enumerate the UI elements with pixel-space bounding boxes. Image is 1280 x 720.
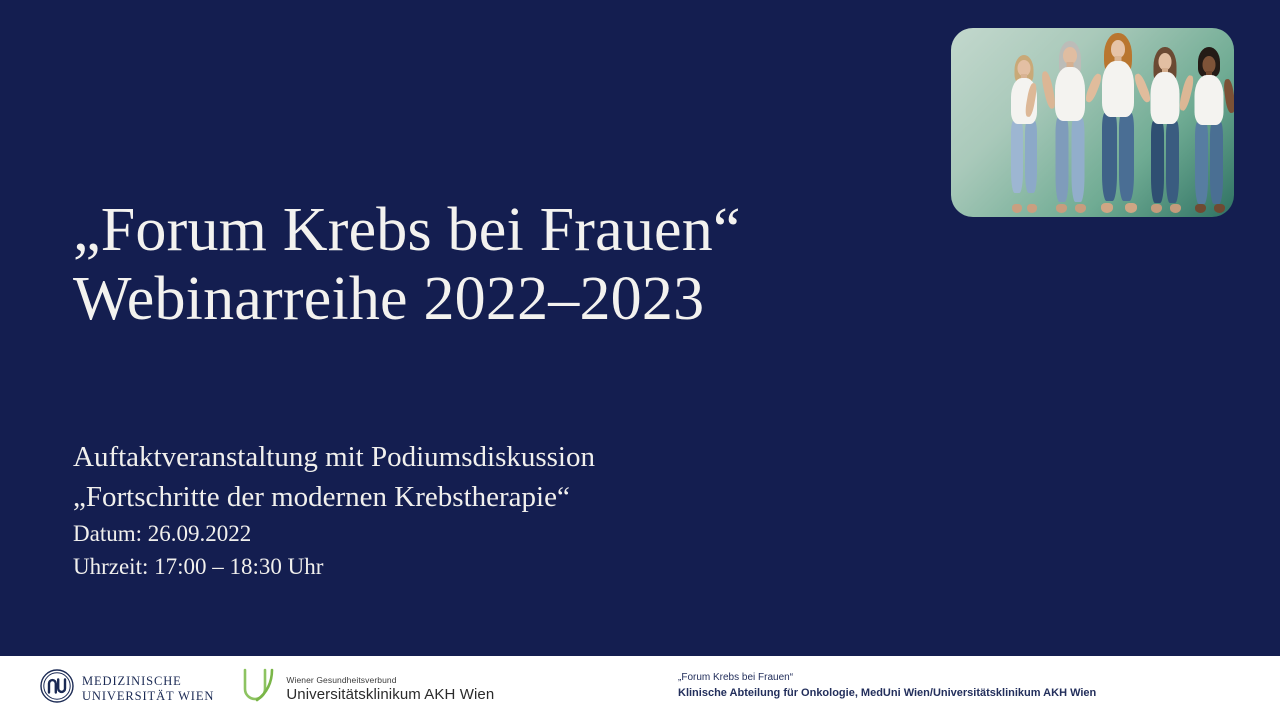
figure-3-legs — [1102, 113, 1134, 201]
akh-logo-text: Wiener Gesundheitsverbund Universitätskl… — [286, 675, 494, 703]
figure-5-legs — [1195, 122, 1223, 204]
subtitle-line-2: „Fortschritte der modernen Krebstherapie… — [73, 477, 933, 517]
footer-attribution: „Forum Krebs bei Frauen“ Klinische Abtei… — [678, 670, 1096, 702]
footer-logos: MEDIZINISCHE UNIVERSITÄT WIEN Wiener Ges… — [40, 666, 494, 711]
slide-subtitle: Auftaktveranstaltung mit Podiumsdiskussi… — [73, 437, 933, 584]
photo-figure-4 — [1143, 45, 1187, 213]
figure-4-torso — [1151, 72, 1180, 124]
meduni-logo-text: MEDIZINISCHE UNIVERSITÄT WIEN — [82, 674, 214, 704]
akh-logo-line-2: Universitätsklinikum AKH Wien — [286, 686, 494, 703]
figure-5-foot-left — [1195, 204, 1206, 213]
presentation-slide: „Forum Krebs bei Frauen“ Webinarreihe 20… — [0, 0, 1280, 720]
slide-title: „Forum Krebs bei Frauen“ Webinarreihe 20… — [73, 196, 953, 335]
meduni-emblem-icon — [40, 669, 74, 708]
figure-1-foot-right — [1027, 204, 1037, 213]
event-time: Uhrzeit: 17:00 – 18:30 Uhr — [73, 550, 933, 583]
meduni-logo-line-1: MEDIZINISCHE — [82, 674, 182, 688]
photo-group-of-women — [951, 28, 1234, 217]
figure-4-foot-left — [1151, 204, 1162, 213]
gesundheitsverbund-swoosh-icon — [238, 666, 280, 711]
photo-figure-1 — [1003, 53, 1045, 213]
footer-series-name: „Forum Krebs bei Frauen“ — [678, 670, 1096, 685]
figure-4-legs — [1151, 121, 1179, 203]
logo-medizinische-universitaet-wien: MEDIZINISCHE UNIVERSITÄT WIEN — [40, 669, 214, 708]
photo-figure-2 — [1047, 41, 1093, 213]
logo-universitaetsklinikum-akh-wien: Wiener Gesundheitsverbund Universitätskl… — [238, 666, 494, 711]
figure-2-legs — [1056, 118, 1085, 202]
slide-footer: MEDIZINISCHE UNIVERSITÄT WIEN Wiener Ges… — [0, 656, 1280, 720]
figure-1-legs — [1011, 121, 1037, 193]
subtitle-line-1: Auftaktveranstaltung mit Podiumsdiskussi… — [73, 437, 933, 477]
figure-5-arm — [1223, 79, 1234, 114]
title-line-1: „Forum Krebs bei Frauen“ — [73, 196, 953, 265]
figure-3-torso — [1102, 61, 1134, 117]
figure-4-foot-right — [1170, 204, 1181, 213]
figure-3-foot-right — [1125, 203, 1137, 213]
figure-2-foot-right — [1075, 204, 1086, 213]
title-line-2: Webinarreihe 2022–2023 — [73, 265, 953, 334]
figure-5-foot-right — [1214, 204, 1225, 213]
footer-department: Klinische Abteilung für Onkologie, MedUn… — [678, 685, 1096, 702]
figure-2-torso — [1055, 67, 1085, 121]
figure-2-foot-left — [1056, 204, 1067, 213]
event-date: Datum: 26.09.2022 — [73, 517, 933, 550]
hero-photo — [951, 28, 1234, 217]
photo-figure-3 — [1093, 33, 1143, 213]
figure-3-foot-left — [1101, 203, 1113, 213]
akh-logo-line-1: Wiener Gesundheitsverbund — [286, 675, 494, 685]
figure-1-foot-left — [1012, 204, 1022, 213]
figure-5-torso — [1195, 75, 1224, 125]
photo-figure-5 — [1187, 47, 1231, 213]
meduni-logo-line-2: UNIVERSITÄT WIEN — [82, 689, 214, 703]
